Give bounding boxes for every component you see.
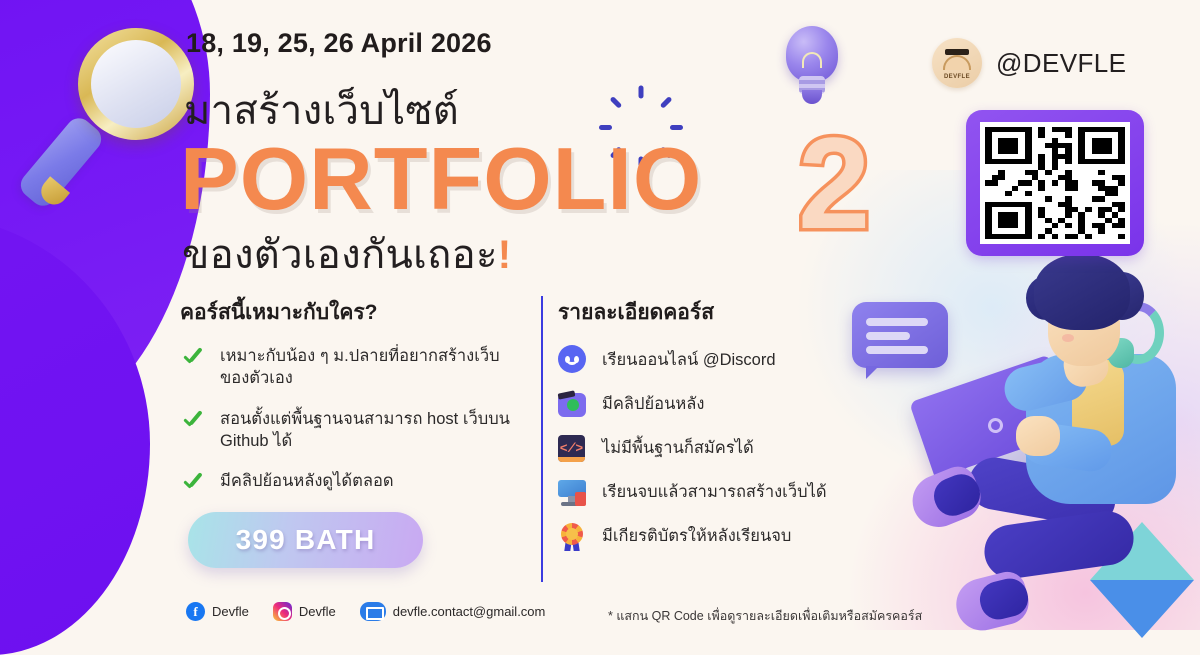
detail-item-label: เรียนออนไลน์ @Discord: [602, 347, 776, 373]
email-icon[interactable]: [360, 602, 386, 621]
detail-item: </>ไม่มีพื้นฐานก็สมัครได้: [558, 433, 858, 463]
details-section: รายละเอียดคอร์ส เรียนออนไลน์ @Discordมีค…: [558, 296, 858, 565]
detail-item-label: ไม่มีพื้นฐานก็สมัครได้: [602, 435, 754, 461]
detail-item: มีคลิปย้อนหลัง: [558, 389, 858, 419]
detail-item: มีเกียรติบัตรให้หลังเรียนจบ: [558, 521, 858, 551]
event-date: 18, 19, 25, 26 April 2026: [186, 28, 492, 59]
contact-label: Devfle: [299, 604, 336, 619]
code-book-icon: </>: [558, 433, 588, 463]
price-badge[interactable]: 399 BATH: [188, 512, 423, 568]
discord-icon: [558, 345, 588, 375]
audience-item: มีคลิปย้อนหลังดูได้ตลอด: [180, 470, 525, 498]
website-build-icon: [558, 477, 588, 507]
subtitle-bottom: ของตัวเองกันเถอะ!: [182, 222, 511, 286]
certificate-medal-icon: [558, 521, 588, 551]
audience-item-label: เหมาะกับน้อง ๆ ม.ปลายที่อยากสร้างเว็บของ…: [220, 345, 525, 390]
audience-item: เหมาะกับน้อง ๆ ม.ปลายที่อยากสร้างเว็บของ…: [180, 345, 525, 390]
details-heading: รายละเอียดคอร์ส: [558, 296, 858, 329]
footer-contacts: DevfleDevfledevfle.contact@gmail.com: [186, 602, 545, 621]
detail-item-label: มีเกียรติบัตรให้หลังเรียนจบ: [602, 523, 791, 549]
audience-item-label: สอนตั้งแต่พื้นฐานจนสามารถ host เว็บบน Gi…: [220, 408, 525, 453]
logo-badge-text: DEVFLE: [932, 74, 982, 80]
devfle-logo-icon: DEVFLE: [932, 38, 982, 88]
audience-heading: คอร์สนี้เหมาะกับใคร?: [180, 296, 525, 329]
page-title: PORTFOLIO: [180, 128, 702, 230]
qr-code-image: [980, 122, 1130, 244]
contact-item[interactable]: Devfle: [273, 602, 336, 621]
qr-code-note: * แสกน QR Code เพื่อดูรายละเอียดเพื่อเติ…: [608, 606, 922, 626]
magnifying-glass-icon: [36, 22, 196, 202]
price-label: 399 BATH: [236, 524, 376, 556]
subtitle-exclamation: !: [498, 233, 512, 277]
facebook-icon[interactable]: [186, 602, 205, 621]
contact-item[interactable]: devfle.contact@gmail.com: [360, 602, 546, 621]
audience-item: สอนตั้งแต่พื้นฐานจนสามารถ host เว็บบน Gi…: [180, 408, 525, 453]
replay-video-icon: [558, 389, 588, 419]
contact-label: devfle.contact@gmail.com: [393, 604, 546, 619]
subtitle-bottom-text: ของตัวเองกันเถอะ: [182, 233, 498, 277]
audience-section: คอร์สนี้เหมาะกับใคร? เหมาะกับน้อง ๆ ม.ปล…: [180, 296, 525, 516]
detail-item-label: มีคลิปย้อนหลัง: [602, 391, 704, 417]
qr-code-frame[interactable]: [966, 110, 1144, 256]
brand-handle: @DEVFLE: [996, 48, 1126, 79]
detail-item: เรียนออนไลน์ @Discord: [558, 345, 858, 375]
contact-label: Devfle: [212, 604, 249, 619]
detail-item: เรียนจบแล้วสามารถสร้างเว็บได้: [558, 477, 858, 507]
contact-item[interactable]: Devfle: [186, 602, 249, 621]
audience-item-label: มีคลิปย้อนหลังดูได้ตลอด: [220, 470, 394, 492]
title-edition-number: 2: [798, 118, 870, 248]
check-icon: [180, 472, 206, 498]
lightbulb-icon: [780, 26, 842, 106]
character-illustration: [876, 250, 1200, 640]
column-divider: [541, 296, 543, 582]
instagram-icon[interactable]: [273, 602, 292, 621]
check-icon: [180, 410, 206, 436]
brand-block: DEVFLE @DEVFLE: [932, 38, 1126, 88]
check-icon: [180, 347, 206, 373]
detail-item-label: เรียนจบแล้วสามารถสร้างเว็บได้: [602, 479, 827, 505]
